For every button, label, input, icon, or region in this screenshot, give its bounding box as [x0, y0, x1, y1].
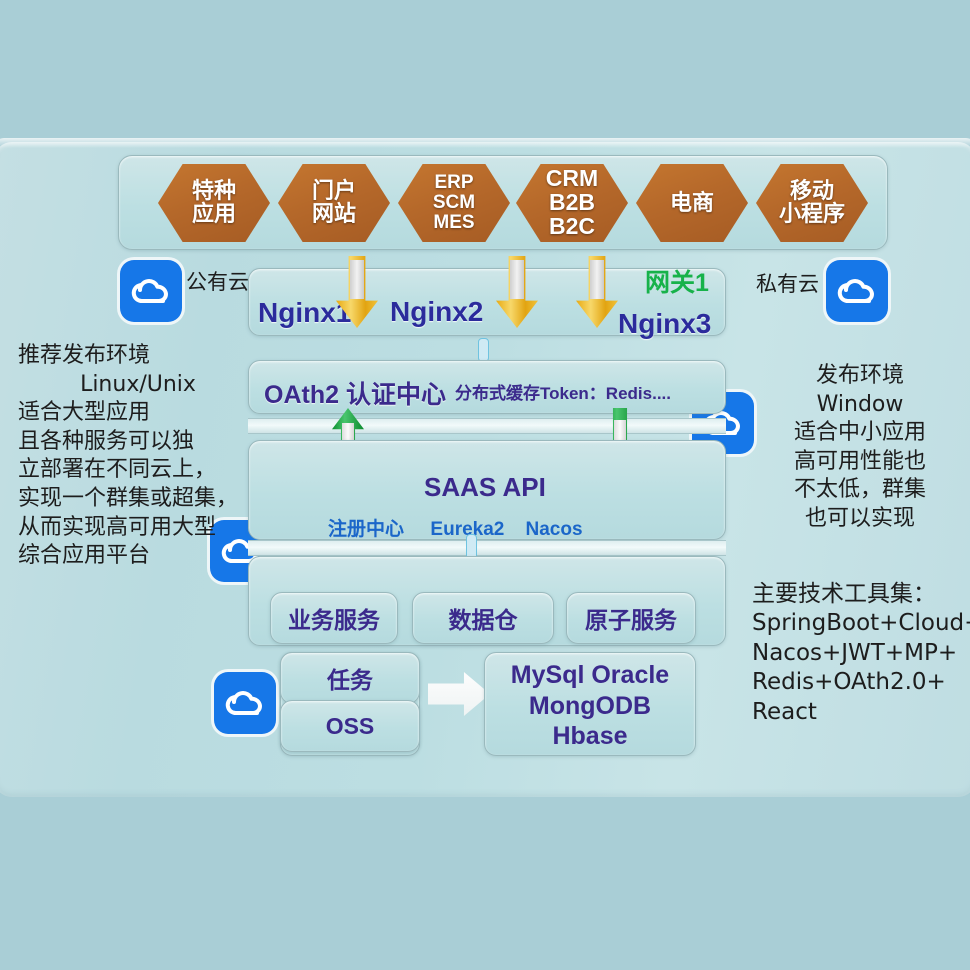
hex-line: 特种 — [192, 180, 236, 203]
public-cloud-label: 公有云 — [186, 266, 249, 296]
hex-line: SCM — [433, 193, 475, 213]
service-label: 数据仓 — [449, 601, 518, 635]
left-note-line: Linux/Unix — [18, 371, 258, 400]
hex-line: 应用 — [192, 203, 236, 226]
hex-line: 网站 — [312, 203, 356, 226]
service-label: 业务服务 — [288, 601, 380, 635]
saas-api-title: SAAS API — [424, 472, 546, 503]
left-note-line: 适合大型应用 — [18, 399, 258, 428]
left-note-line: 从而实现高可用大型 — [18, 514, 258, 543]
divider-saas-services — [248, 540, 726, 556]
service-box-oss[interactable]: OSS — [280, 700, 420, 752]
tool-note-line: React — [752, 698, 970, 727]
tool-note-line: SpringBoot+Cloud+ — [752, 609, 970, 638]
connector-gateway-auth — [478, 338, 489, 362]
nginx3-label[interactable]: Nginx3 — [618, 308, 711, 340]
hex-line: 移动 — [779, 180, 845, 203]
left-note-line: 且各种服务可以独 — [18, 428, 258, 457]
left-note-line: 综合应用平台 — [18, 542, 258, 571]
saas-registry-line: 注册中心 Eureka2 Nacos — [328, 514, 583, 541]
registry-label: 注册中心 — [328, 519, 404, 540]
right-note-line: 适合中小应用 — [752, 419, 968, 448]
right-note-line: 发布环境 — [752, 362, 968, 391]
service-box-business[interactable]: 业务服务 — [270, 592, 398, 644]
auth-center-subtitle: 分布式缓存Token：Redis.... — [455, 379, 671, 404]
right-note-line: 不太低，群集 — [752, 476, 968, 505]
right-note-line: 也可以实现 — [752, 505, 968, 534]
right-note: 发布环境 Window 适合中小应用 高可用性能也 不太低，群集 也可以实现 — [752, 362, 968, 534]
private-cloud-label: 私有云 — [756, 268, 819, 298]
left-note-line: 实现一个群集或超集， — [18, 485, 258, 514]
tool-note-line: Nacos+JWT+MP+ — [752, 639, 970, 668]
database-line: MongODB — [484, 691, 696, 722]
tool-note-line: Redis+OAth2.0+ — [752, 668, 970, 697]
hex-line: B2C — [546, 215, 598, 239]
hex-line: 电商 — [670, 192, 714, 215]
architecture-diagram: 特种应用 门户网站 ERPSCMMES CRMB2BB2C 电商 移动小程序 公… — [0, 0, 970, 970]
left-note: 推荐发布环境 Linux/Unix 适合大型应用 且各种服务可以独 立部署在不同… — [18, 342, 258, 571]
service-box-task[interactable]: 任务 — [280, 652, 420, 704]
cloud-icon-public — [120, 260, 182, 322]
nginx2-label[interactable]: Nginx2 — [390, 296, 483, 328]
service-box-atomic[interactable]: 原子服务 — [566, 592, 696, 644]
right-note-line: Window — [752, 391, 968, 420]
cloud-icon-private — [826, 260, 888, 322]
hex-line: 门户 — [312, 180, 356, 203]
cloud-icon — [833, 270, 881, 312]
hex-line: ERP — [433, 173, 475, 193]
auth-center-title: OAth2 认证中心 — [264, 375, 446, 411]
cloud-icon — [127, 270, 175, 312]
database-labels: MySql Oracle MongODB Hbase — [484, 660, 696, 752]
right-note-line: 高可用性能也 — [752, 448, 968, 477]
tool-note: 主要技术工具集： SpringBoot+Cloud+ Nacos+JWT+MP+… — [752, 580, 970, 727]
divider-auth-saas — [248, 418, 726, 434]
left-note-line: 推荐发布环境 — [18, 342, 258, 371]
service-label: 原子服务 — [585, 601, 677, 635]
gateway1-label: 网关1 — [645, 263, 709, 299]
database-line: MySql Oracle — [484, 660, 696, 691]
tool-note-title: 主要技术工具集： — [752, 580, 970, 609]
nacos-label: Nacos — [526, 519, 583, 540]
hex-line: MES — [433, 213, 475, 233]
left-note-line: 立部署在不同云上， — [18, 456, 258, 485]
cloud-icon — [221, 682, 269, 724]
service-box-warehouse[interactable]: 数据仓 — [412, 592, 554, 644]
oss-label: OSS — [326, 713, 375, 740]
database-line: Hbase — [484, 721, 696, 752]
task-label: 任务 — [327, 661, 373, 695]
cloud-icon-storage — [214, 672, 276, 734]
hex-line: 小程序 — [779, 203, 845, 226]
hex-line: CRM — [546, 167, 598, 191]
hex-line: B2B — [546, 191, 598, 215]
